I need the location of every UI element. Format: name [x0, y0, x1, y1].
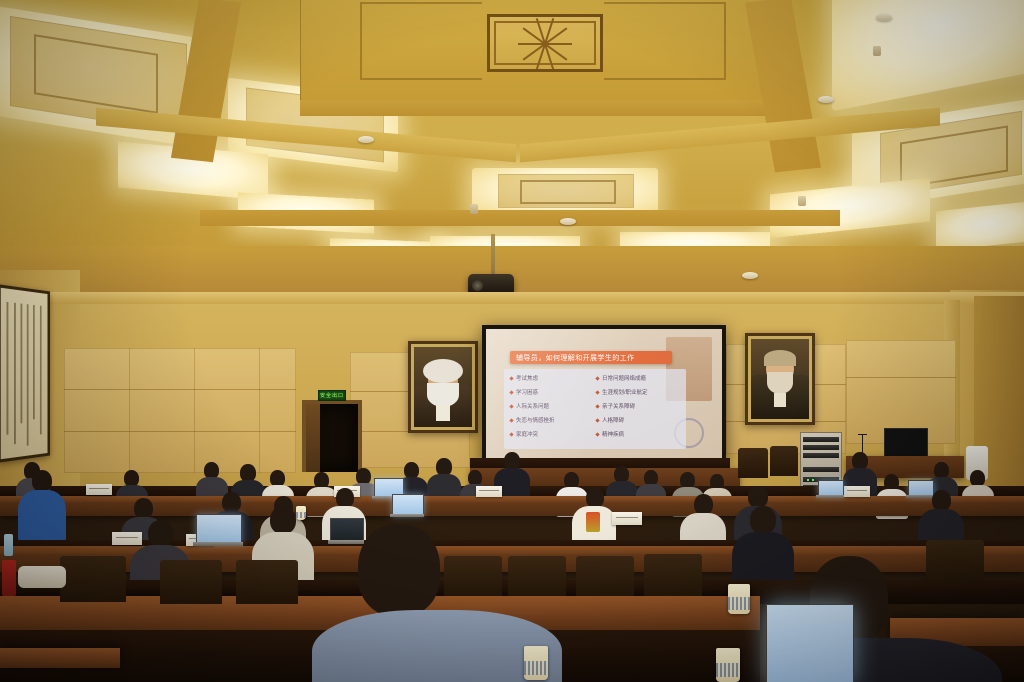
name-card: [476, 486, 502, 497]
projector-mount-rod: [491, 234, 495, 276]
control-monitor[interactable]: [884, 428, 928, 458]
auditorium-chair[interactable]: [738, 448, 768, 478]
thermos: [2, 560, 16, 596]
exit-sign-label: 安全出口: [320, 392, 344, 399]
water-bottle: [4, 534, 13, 556]
paper-cup: [716, 648, 740, 682]
calligraphy-scroll: [0, 284, 50, 463]
ceiling-meander: [520, 180, 616, 204]
projector-lens-icon: [472, 280, 483, 291]
portrait-beard: [767, 372, 793, 394]
portrait-collar: [436, 405, 450, 421]
portrait-hair: [764, 350, 796, 366]
sprinkler-head-icon: [470, 204, 478, 214]
portrait-engels: [745, 333, 815, 425]
sprinkler-head-icon: [873, 46, 881, 56]
ceiling-meander: [360, 2, 482, 80]
portrait-collar: [774, 393, 786, 407]
auditorium-chair[interactable]: [926, 540, 984, 584]
paper-cup: [296, 506, 306, 520]
ceiling-beam: [300, 100, 770, 116]
auditorium-chair[interactable]: [644, 554, 702, 596]
name-card: [612, 512, 642, 525]
shirt-graphic: [586, 512, 600, 532]
auditorium-chair[interactable]: [444, 556, 502, 596]
portrait-hair: [423, 359, 463, 383]
portrait-marx: [408, 341, 478, 433]
acoustic-wall-panel: [64, 348, 296, 473]
name-card: [112, 532, 142, 545]
smoke-detector-icon: [876, 14, 892, 21]
paper-cup: [524, 646, 548, 680]
auditorium-chair[interactable]: [236, 560, 298, 604]
smoke-detector-icon: [818, 96, 834, 103]
auditorium-chair[interactable]: [508, 556, 566, 596]
auditorium-chair[interactable]: [770, 446, 798, 476]
smoke-detector-icon: [560, 218, 576, 225]
wall-cornice: [0, 292, 1024, 304]
sprinkler-head-icon: [798, 196, 806, 206]
exit-sign[interactable]: 安全出口: [318, 390, 346, 401]
side-desk: [0, 648, 120, 668]
name-card: [844, 486, 870, 497]
door-leaf: [306, 404, 320, 472]
ceiling-ornament: [487, 14, 603, 72]
auditorium-chair[interactable]: [60, 556, 126, 602]
folded-cloth: [18, 566, 66, 588]
screen-glare: [486, 329, 722, 460]
smoke-detector-icon: [358, 136, 374, 143]
lecture-hall-photo: 安全出口 辅导员，如何理解和开展学生的工作 考试焦虑 学习困惑 人际关系问题 失…: [0, 0, 1024, 682]
paper-cup: [728, 584, 750, 614]
auditorium-chair[interactable]: [160, 560, 222, 604]
projection-screen[interactable]: 辅导员，如何理解和开展学生的工作 考试焦虑 学习困惑 人际关系问题 失恋与情感挫…: [482, 325, 726, 464]
ceiling-beam: [200, 210, 840, 226]
ceiling-meander: [604, 2, 726, 80]
smoke-detector-icon: [742, 272, 758, 279]
portrait-beard: [427, 383, 459, 407]
auditorium-chair[interactable]: [576, 556, 634, 596]
desk-surface: [0, 496, 1024, 502]
name-card: [86, 484, 112, 495]
